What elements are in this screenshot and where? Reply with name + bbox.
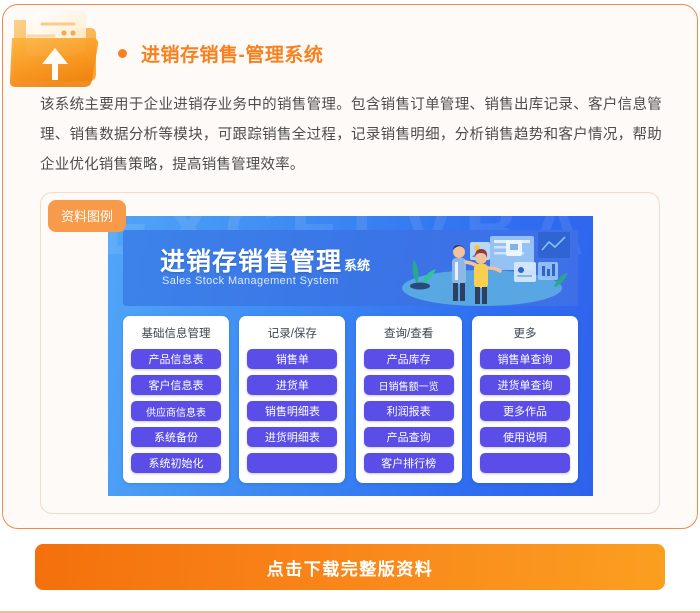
screenshot-title-main: 进销存销售管理 (160, 242, 342, 278)
module-columns: 基础信息管理 产品信息表 客户信息表 供应商信息表 系统备份 系统初始化 记录/… (123, 316, 578, 483)
app-screenshot: EXCELVBA 进销存销售管理 系统 Sales Stock Manageme… (108, 216, 593, 496)
module-column-basic-info: 基础信息管理 产品信息表 客户信息表 供应商信息表 系统备份 系统初始化 (123, 316, 229, 483)
page-title: 进销存销售-管理系统 (141, 40, 323, 67)
module-button[interactable]: 产品库存 (364, 349, 454, 369)
module-button[interactable]: 客户信息表 (131, 375, 221, 395)
module-button[interactable]: 进货明细表 (247, 427, 337, 447)
module-column-query-view: 查询/查看 产品库存 日销售额一览 利润报表 产品查询 客户排行榜 (356, 316, 462, 483)
module-button[interactable]: 系统初始化 (131, 453, 221, 473)
module-button[interactable]: 销售单查询 (480, 349, 570, 369)
module-button[interactable]: 进货单查询 (480, 375, 570, 395)
bottom-divider (0, 611, 700, 613)
screenshot-banner: 进销存销售管理 系统 Sales Stock Management System (123, 230, 578, 306)
module-button[interactable]: 使用说明 (480, 427, 570, 447)
column-header: 查询/查看 (364, 325, 454, 341)
module-button[interactable]: 客户排行榜 (364, 453, 454, 473)
module-button[interactable]: 利润报表 (364, 401, 454, 421)
column-header: 更多 (480, 325, 570, 341)
module-button-empty[interactable] (480, 453, 570, 473)
download-button[interactable]: 点击下载完整版资料 (35, 544, 665, 590)
module-button[interactable]: 更多作品 (480, 401, 570, 421)
module-button[interactable]: 产品查询 (364, 427, 454, 447)
module-button[interactable]: 日销售额一览 (364, 375, 454, 395)
screenshot-title-suffix: 系统 (344, 255, 370, 274)
module-button-empty[interactable] (247, 453, 337, 473)
folder-upload-icon (4, 2, 108, 106)
module-column-record-save: 记录/保存 销售单 进货单 销售明细表 进货明细表 (239, 316, 345, 483)
module-button[interactable]: 销售单 (247, 349, 337, 369)
module-column-more: 更多 销售单查询 进货单查询 更多作品 使用说明 (472, 316, 578, 483)
column-header: 记录/保存 (247, 325, 337, 341)
page-title-row: 进销存销售-管理系统 (118, 40, 323, 67)
bullet-dot-icon (118, 49, 127, 58)
module-button[interactable]: 供应商信息表 (131, 401, 221, 421)
column-header: 基础信息管理 (131, 325, 221, 341)
module-button[interactable]: 产品信息表 (131, 349, 221, 369)
people-dashboard-illustration (394, 230, 574, 306)
module-button[interactable]: 进货单 (247, 375, 337, 395)
description-text: 该系统主要用于企业进销存业务中的销售管理。包含销售订单管理、销售出库记录、客户信… (40, 90, 662, 180)
screenshot-subtitle: Sales Stock Management System (162, 275, 339, 287)
screenshot-title: 进销存销售管理 系统 (160, 242, 370, 278)
legend-badge: 资料图例 (48, 200, 126, 232)
module-button[interactable]: 销售明细表 (247, 401, 337, 421)
module-button[interactable]: 系统备份 (131, 427, 221, 447)
